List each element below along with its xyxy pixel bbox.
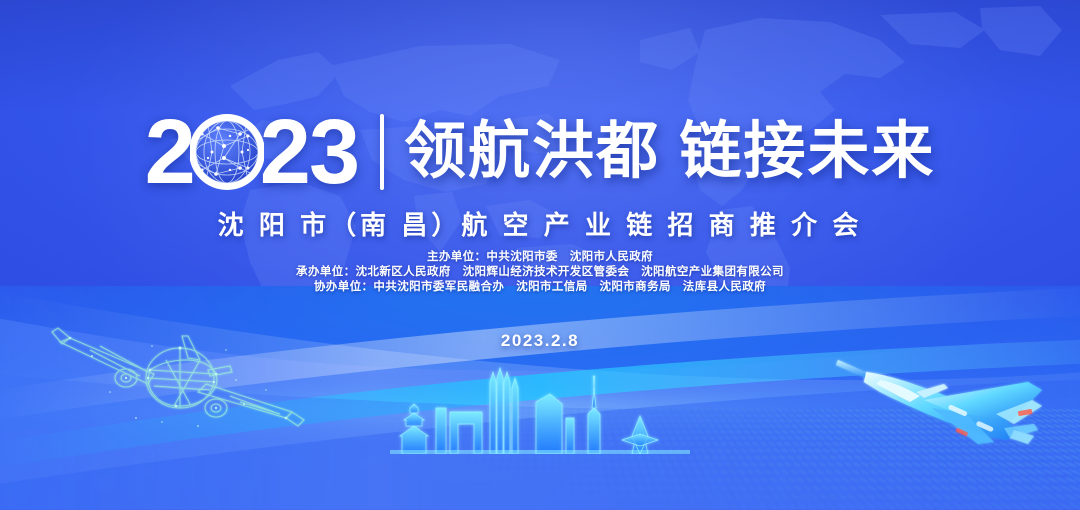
headline-row: 2 xyxy=(0,104,1080,200)
city-skyline-illustration xyxy=(390,358,690,454)
fighter-jet-illustration xyxy=(828,348,1078,458)
main-title: 领航洪都 链接未来 xyxy=(404,121,935,183)
organizer-line-coorganizer: 协办单位：中共沈阳市委军民融合办 沈阳市工信局 沈阳市商务局 法库县人民政府 xyxy=(0,280,1080,295)
title-divider xyxy=(380,114,384,190)
event-date: 2023.2.8 xyxy=(0,331,1080,351)
network-globe-icon xyxy=(190,110,264,194)
year-logo: 2 xyxy=(145,104,359,200)
organizer-block: 主办单位：中共沈阳市委 沈阳市人民政府 承办单位：沈北新区人民政府 沈阳辉山经济… xyxy=(0,250,1080,295)
year-digit-4: 3 xyxy=(309,106,358,198)
year-digit-3: 2 xyxy=(260,106,309,198)
event-subtitle: 沈 阳 市（南 昌）航 空 产 业 链 招 商 推 介 会 xyxy=(0,205,1080,242)
year-digit-1: 2 xyxy=(145,106,194,198)
organizer-line-host: 主办单位：中共沈阳市委 沈阳市人民政府 xyxy=(0,250,1080,265)
organizer-line-undertaker: 承办单位：沈北新区人民政府 沈阳辉山经济技术开发区管委会 沈阳航空产业集团有限公… xyxy=(0,265,1080,280)
event-banner: 2 xyxy=(0,0,1080,510)
